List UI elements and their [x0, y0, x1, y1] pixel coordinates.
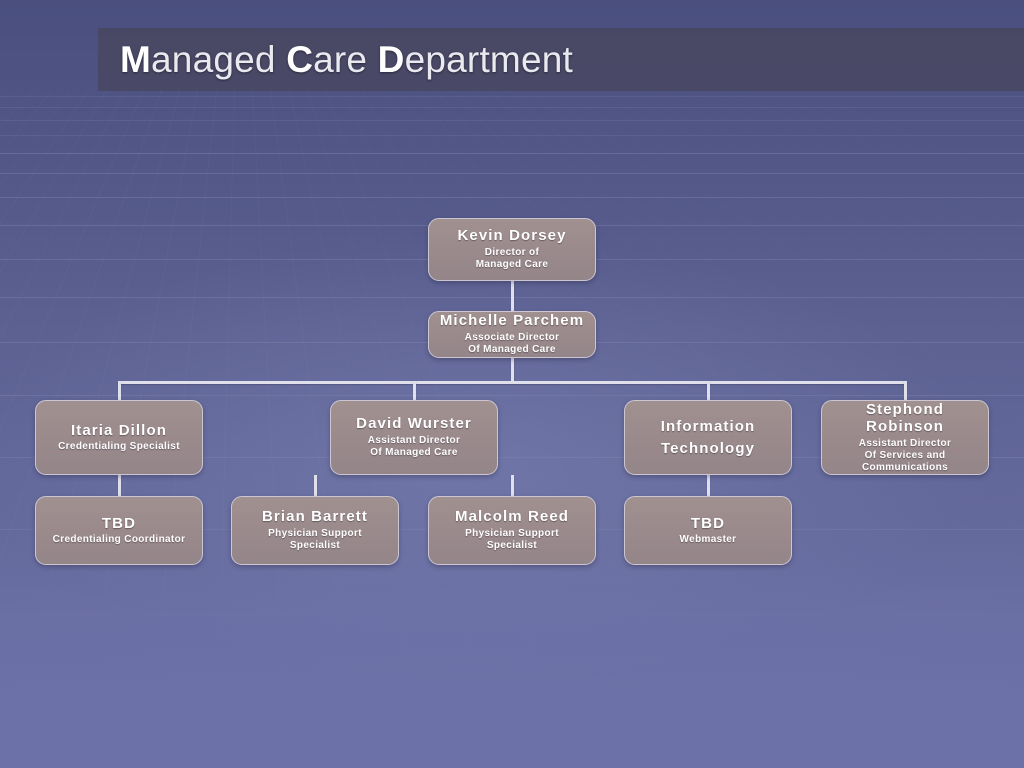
org-node-title-line: Credentialing Coordinator: [53, 534, 186, 545]
org-node-michelle-parchem[interactable]: Michelle Parchem Associate Director Of M…: [428, 311, 596, 358]
org-node-title: Webmaster: [680, 534, 737, 546]
org-node-title: Associate Director Of Managed Care: [465, 332, 560, 356]
org-node-title-line: Of Managed Care: [370, 447, 458, 458]
connector-dillon-to-tbd-coordinator: [118, 475, 121, 496]
connector-wurster-to-reed: [511, 475, 514, 496]
org-node-name: Kevin Dorsey: [457, 227, 566, 245]
org-node-title-line: Physician Support: [465, 528, 559, 539]
connector-parchem-down: [511, 358, 514, 382]
connector-horizontal-bus: [118, 381, 907, 384]
org-node-itaria-dillon[interactable]: Itaria Dillon Credentialing Specialist: [35, 400, 203, 475]
org-node-malcolm-reed[interactable]: Malcolm Reed Physician Support Specialis…: [428, 496, 596, 565]
org-node-name: Information Technology: [631, 416, 785, 460]
org-node-tbd-webmaster[interactable]: TBD Webmaster: [624, 496, 792, 565]
org-node-kevin-dorsey[interactable]: Kevin Dorsey Director of Managed Care: [428, 218, 596, 281]
org-node-title-line: Of Managed Care: [468, 344, 556, 355]
org-node-title-line: Credentialing Specialist: [58, 441, 180, 452]
org-chart: Kevin Dorsey Director of Managed Care Mi…: [0, 0, 1024, 768]
org-node-title-line: Assistant Director: [368, 435, 460, 446]
org-node-title: Director of Managed Care: [476, 247, 549, 271]
org-node-brian-barrett[interactable]: Brian Barrett Physician Support Speciali…: [231, 496, 399, 565]
connector-bus-to-robinson: [904, 381, 907, 400]
org-node-title: Credentialing Coordinator: [53, 534, 186, 546]
org-node-title: Assistant Director Of Services and Commu…: [859, 438, 951, 475]
org-node-stephond-robinson[interactable]: Stephond Robinson Assistant Director Of …: [821, 400, 989, 475]
org-node-tbd-credentialing-coordinator[interactable]: TBD Credentialing Coordinator: [35, 496, 203, 565]
org-node-name: Itaria Dillon: [71, 422, 167, 440]
connector-dorsey-to-parchem: [511, 281, 514, 311]
org-node-title-line: Director of: [485, 247, 539, 258]
org-node-information-technology[interactable]: Information Technology: [624, 400, 792, 475]
org-node-title-line: Webmaster: [680, 534, 737, 545]
org-node-name: David Wurster: [356, 415, 472, 433]
org-node-name: Stephond Robinson: [828, 401, 982, 436]
org-node-title-line: Specialist: [290, 540, 340, 551]
org-node-title-line: Of Services and: [865, 450, 946, 461]
org-node-title-line: Assistant Director: [859, 438, 951, 449]
connector-wurster-to-barrett: [314, 475, 317, 496]
org-node-title-line: Specialist: [487, 540, 537, 551]
org-node-name: Michelle Parchem: [440, 312, 584, 330]
org-node-name: Malcolm Reed: [455, 508, 569, 526]
org-node-title: Physician Support Specialist: [465, 528, 559, 552]
org-node-name: Brian Barrett: [262, 508, 368, 526]
org-node-title-line: Associate Director: [465, 332, 560, 343]
org-node-title-line: Physician Support: [268, 528, 362, 539]
org-node-title: Credentialing Specialist: [58, 441, 180, 453]
org-node-name: TBD: [102, 515, 136, 533]
org-node-title: Assistant Director Of Managed Care: [368, 435, 460, 459]
connector-bus-to-dillon: [118, 381, 121, 400]
org-node-title-line: Communications: [862, 462, 948, 473]
org-node-david-wurster[interactable]: David Wurster Assistant Director Of Mana…: [330, 400, 498, 475]
org-node-title-line: Managed Care: [476, 259, 549, 270]
connector-bus-to-it: [707, 381, 710, 400]
connector-bus-to-wurster: [413, 381, 416, 400]
connector-it-to-tbd-webmaster: [707, 475, 710, 496]
org-node-title: Physician Support Specialist: [268, 528, 362, 552]
org-node-name: TBD: [691, 515, 725, 533]
slide-canvas: Managed Care Department Kevin Dorsey Dir…: [0, 0, 1024, 768]
